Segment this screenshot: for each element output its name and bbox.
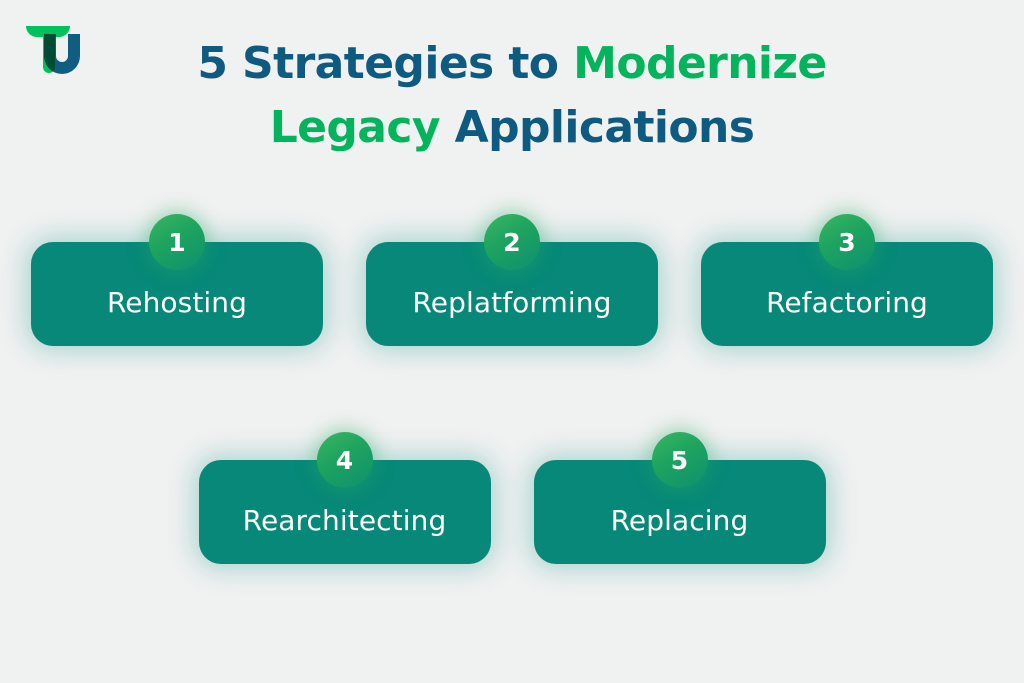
strategy-number-3: 3 [838, 230, 855, 255]
title-segment-modernize: Modernize [573, 38, 827, 89]
strategy-number-2: 2 [503, 230, 520, 255]
strategy-label-4: Rearchitecting [243, 507, 447, 535]
strategy-number-badge-1: 1 [149, 214, 205, 270]
strategy-card-rehosting[interactable]: 1 Rehosting [31, 214, 323, 346]
strategy-number-4: 4 [336, 448, 353, 473]
strategy-row-top: 1 Rehosting 2 Replatforming 3 Refactorin… [0, 214, 1024, 346]
strategy-card-refactoring[interactable]: 3 Refactoring [701, 214, 993, 346]
title-segment-strategies: 5 Strategies to [197, 38, 573, 89]
strategy-label-1: Rehosting [107, 289, 247, 317]
strategy-number-badge-2: 2 [484, 214, 540, 270]
strategy-number-badge-3: 3 [819, 214, 875, 270]
title-segment-applications: Applications [455, 102, 755, 153]
strategy-row-bottom: 4 Rearchitecting 5 Replacing [0, 432, 1024, 564]
strategy-card-grid: 1 Rehosting 2 Replatforming 3 Refactorin… [0, 214, 1024, 564]
strategy-number-5: 5 [671, 448, 688, 473]
strategy-label-2: Replatforming [413, 289, 612, 317]
strategy-label-3: Refactoring [766, 289, 928, 317]
strategy-label-5: Replacing [611, 507, 749, 535]
strategy-number-1: 1 [168, 230, 185, 255]
strategy-number-badge-5: 5 [652, 432, 708, 488]
strategy-card-replacing[interactable]: 5 Replacing [534, 432, 826, 564]
strategy-card-rearchitecting[interactable]: 4 Rearchitecting [199, 432, 491, 564]
strategy-number-badge-4: 4 [317, 432, 373, 488]
title-segment-legacy: Legacy [270, 102, 455, 153]
page-title: 5 Strategies to Modernize Legacy Applica… [0, 32, 1024, 160]
strategy-card-replatforming[interactable]: 2 Replatforming [366, 214, 658, 346]
page-title-line-1: 5 Strategies to Modernize [0, 32, 1024, 96]
page-title-line-2: Legacy Applications [0, 96, 1024, 160]
